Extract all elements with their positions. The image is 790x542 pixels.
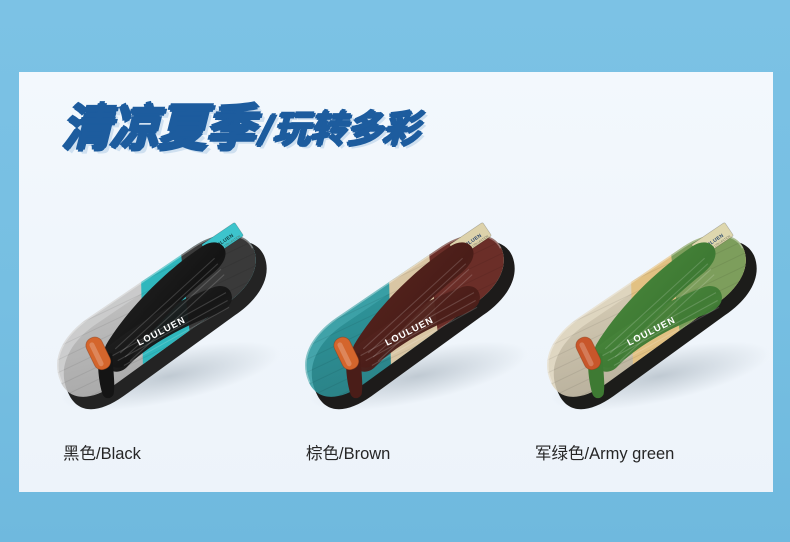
product-caption-brown: 棕色/Brown — [278, 440, 556, 464]
product-army-green[interactable]: LOULUEN SUMMER COLLECTION LOULUEN 军绿色/Ar… — [520, 212, 770, 480]
page-title: 清凉夏季/玩转多彩 — [62, 104, 419, 153]
headline-main: 清凉夏季 — [62, 100, 254, 157]
sandal-svg: LOULUEN SUMMER COLLECTION LOULUEN — [10, 188, 299, 450]
product-brown[interactable]: LOULUEN SUMMER COLLECTION LOULUEN 棕色/Bro… — [278, 212, 528, 480]
product-banner: 清凉夏季/玩转多彩 — [0, 0, 790, 542]
sandal-image-army-green: LOULUEN SUMMER COLLECTION LOULUEN — [520, 212, 770, 427]
product-caption-black: 黑色/Black — [30, 440, 313, 464]
sandal-svg: LOULUEN SUMMER COLLECTION LOULUEN — [500, 188, 789, 450]
product-black[interactable]: LOULUEN SUMMER COLLECTION LOULUEN 黑色/Bla… — [30, 212, 280, 480]
sandal-image-brown: LOULUEN SUMMER COLLECTION LOULUEN — [278, 212, 528, 427]
headline-sub: /玩转多彩 — [260, 108, 419, 151]
sandal-image-black: LOULUEN SUMMER COLLECTION LOULUEN — [30, 212, 280, 427]
product-caption-army-green: 军绿色/Army green — [520, 440, 785, 464]
sandal-svg: LOULUEN SUMMER COLLECTION LOULUEN — [258, 188, 547, 450]
